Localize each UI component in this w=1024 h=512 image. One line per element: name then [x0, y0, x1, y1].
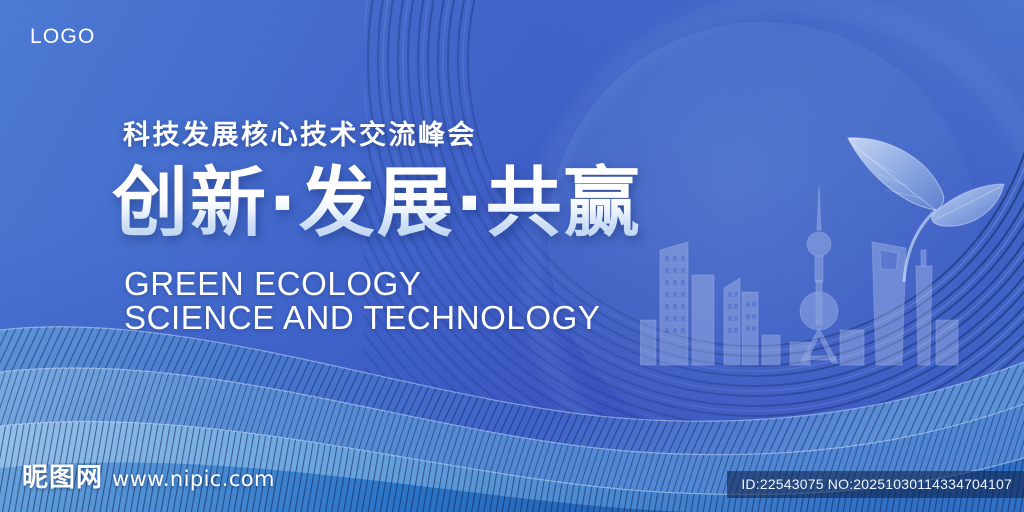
page-title: 创新·发展·共赢: [112, 163, 642, 243]
event-kicker: 科技发展核心技术交流峰会: [123, 113, 477, 152]
watermark-site-name: 昵图网: [22, 457, 103, 494]
watermark: 昵图网 www.nipic.com: [22, 457, 275, 494]
watermark-site-url: www.nipic.com: [112, 467, 275, 491]
id-badge: ID:22543075 NO:20251030114334704107: [727, 471, 1024, 498]
poster-canvas: LOGO 科技发展核心技术交流峰会 创新·发展·共赢 GREEN ECOLOGY…: [0, 0, 1024, 512]
english-subtitle-line-1: GREEN ECOLOGY: [124, 265, 422, 303]
logo: LOGO: [30, 25, 95, 49]
english-subtitle-line-2: SCIENCE AND TECHNOLOGY: [124, 299, 601, 337]
